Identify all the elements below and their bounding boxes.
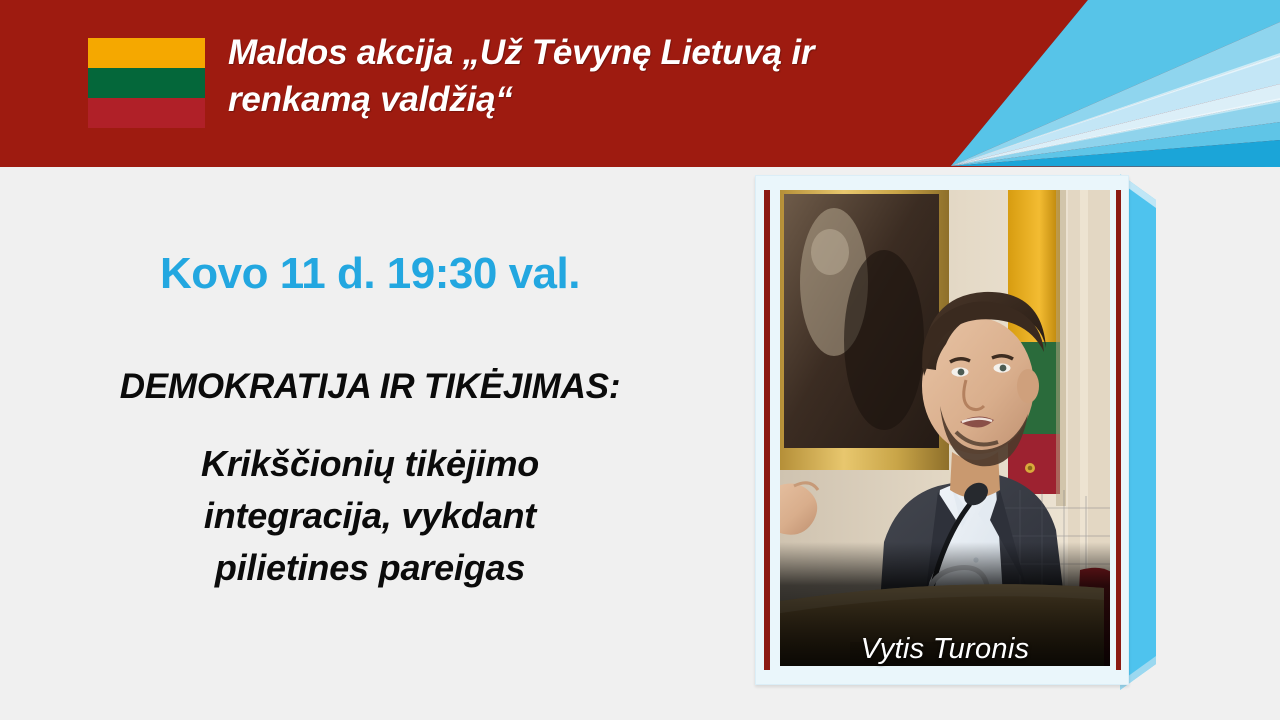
ray-3	[951, 22, 1280, 166]
ray-gap-2	[951, 98, 1280, 166]
flag-band-red	[88, 98, 205, 128]
header-title: Maldos akcija „Už Tėvynę Lietuvą ir renk…	[228, 30, 948, 123]
presentation-slide: Maldos akcija „Už Tėvynę Lietuvą ir renk…	[0, 0, 1280, 720]
topic-subtitle-line-2: integracija, vykdant	[0, 490, 740, 542]
header-title-line-1: Maldos akcija „Už Tėvynę Lietuvą ir	[228, 30, 948, 77]
ray-1	[951, 0, 1280, 166]
event-date-time: Kovo 11 d. 19:30 val.	[0, 249, 740, 299]
topic-subtitle-line-3: pilietines pareigas	[0, 542, 740, 594]
flag-band-yellow	[88, 38, 205, 68]
ray-gap-1	[951, 53, 1280, 166]
speaker-photo-image	[780, 190, 1110, 666]
ray-8	[951, 140, 1280, 167]
ray-5	[951, 84, 1280, 166]
topic-subtitle: Krikščionių tikėjimo integracija, vykdan…	[0, 438, 740, 593]
speaker-photo-frame: Vytis Turonis	[755, 175, 1129, 685]
frame-accent-bar-left	[764, 190, 770, 670]
flag-band-green	[88, 68, 205, 98]
topic-headline: DEMOKRATIJA IR TIKĖJIMAS:	[0, 367, 740, 407]
ray-2	[951, 0, 1280, 166]
ray-4	[951, 55, 1280, 166]
header-banner: Maldos akcija „Už Tėvynę Lietuvą ir renk…	[0, 0, 1280, 167]
lithuanian-flag-icon	[88, 38, 205, 128]
ray-7	[951, 122, 1280, 166]
speaker-photo	[780, 190, 1110, 666]
ray-6	[951, 100, 1280, 166]
frame-accent-bar-right	[1116, 190, 1121, 670]
topic-subtitle-line-1: Krikščionių tikėjimo	[0, 438, 740, 490]
header-title-line-2: renkamą valdžią“	[228, 77, 948, 124]
